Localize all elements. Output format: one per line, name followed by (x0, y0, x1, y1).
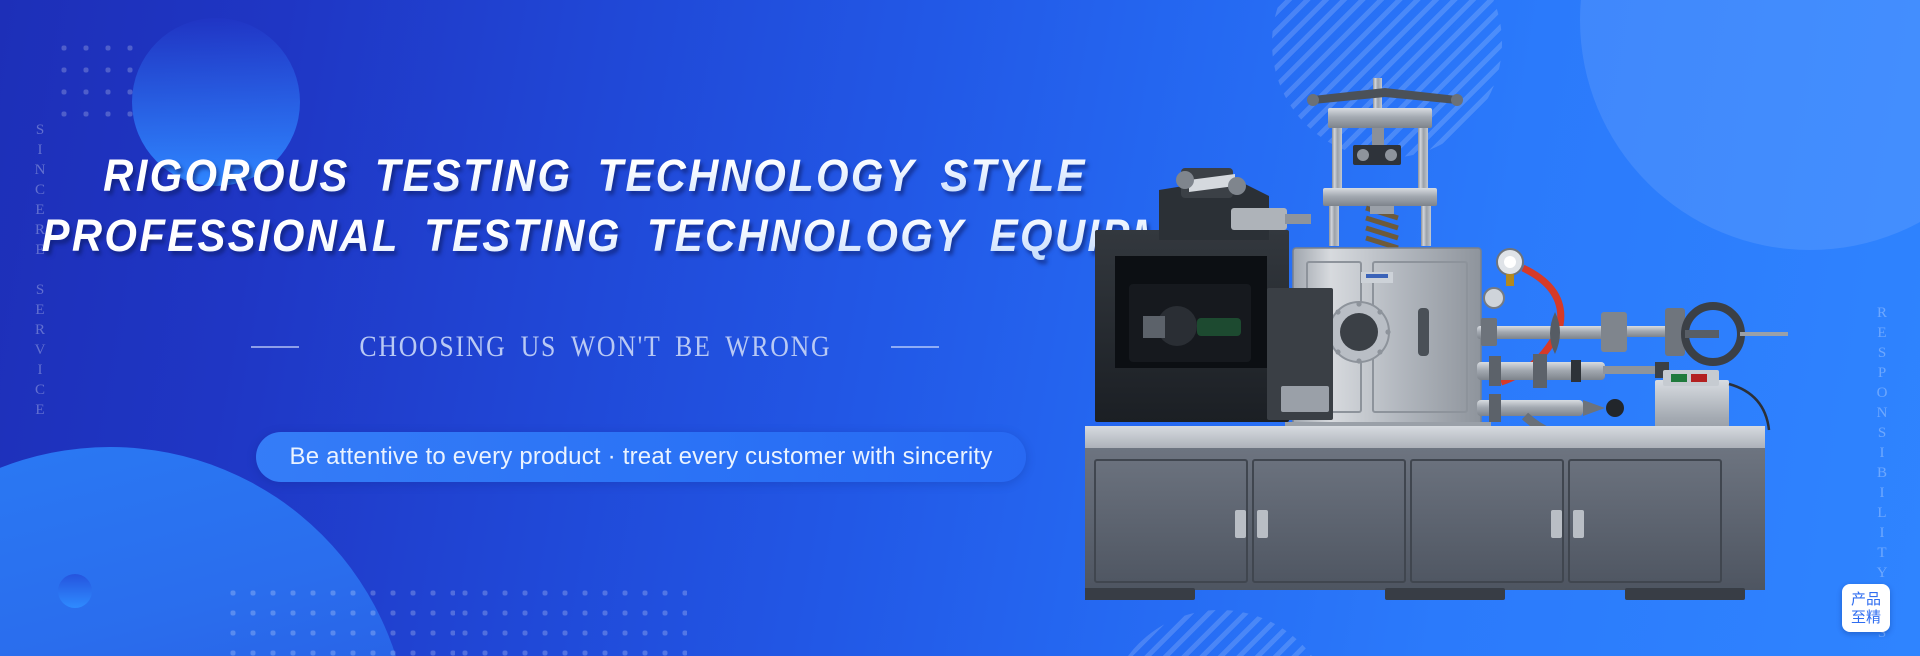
decorative-dot-grid-bottom-center (455, 583, 687, 656)
product-photo (1085, 40, 1885, 600)
subline-rule-left (251, 346, 299, 348)
equipment-bench (1085, 426, 1765, 600)
decorative-striped-circle-bottom-center (1105, 610, 1335, 656)
hero-banner: SINCERE SERVICE RESPONSIBILITY IS SUPREM… (0, 0, 1920, 656)
quality-badge-line-2: 至精 (1851, 608, 1881, 626)
slogan-pill-text: Be attentive to every product · treat ev… (289, 443, 992, 471)
quality-badge[interactable]: 产品 至精 (1842, 584, 1890, 632)
subline-group: CHOOSING US WON'T BE WRONG (0, 330, 1190, 364)
load-frame-assembly (1307, 78, 1463, 248)
decorative-dot-grid-bottom-left (223, 583, 455, 656)
quality-badge-line-1: 产品 (1851, 590, 1881, 608)
decorative-dot-bottom-left (58, 574, 92, 608)
slogan-pill: Be attentive to every product · treat ev… (256, 432, 1026, 482)
headline-secondary: PROFESSIONAL TESTING TECHNOLOGY EQUIPMEN… (42, 206, 1149, 266)
subline-text: CHOOSING US WON'T BE WRONG (359, 330, 831, 364)
headline-primary: RIGOROUS TESTING TECHNOLOGY STYLE (42, 146, 1149, 206)
headline-group: RIGOROUS TESTING TECHNOLOGY STYLE PROFES… (0, 146, 1190, 266)
testing-machine-illustration (1085, 40, 1885, 600)
subline-rule-right (891, 346, 939, 348)
decorative-dot-grid-top-left (53, 37, 133, 117)
black-machine-housing (1095, 168, 1333, 422)
